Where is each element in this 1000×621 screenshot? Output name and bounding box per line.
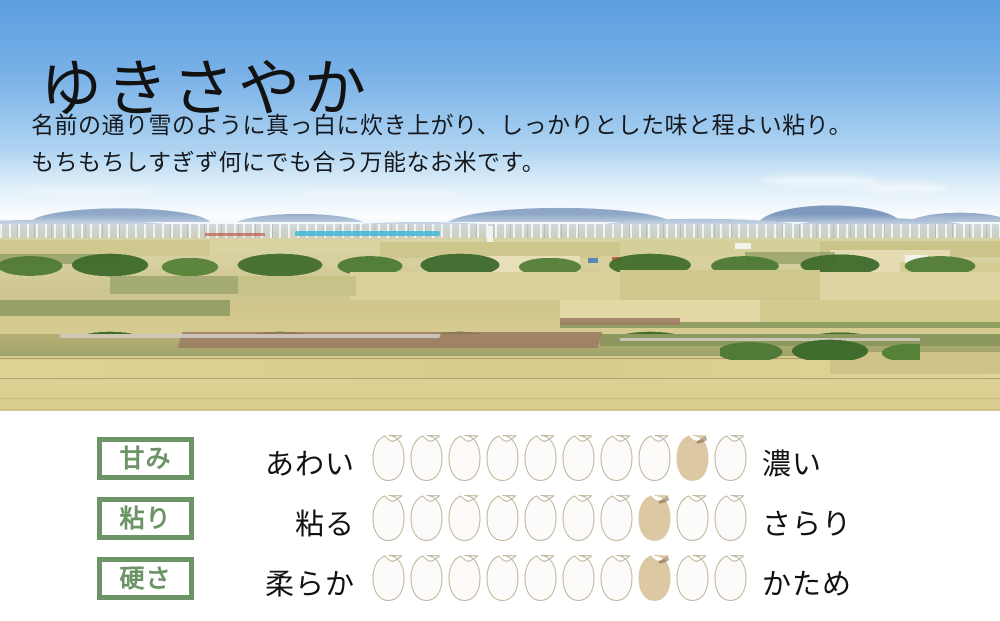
scale-left-label-sweetness: あわい bbox=[205, 441, 355, 483]
grain-empty bbox=[408, 553, 445, 603]
grain-empty bbox=[408, 493, 445, 543]
grain-empty bbox=[674, 553, 711, 603]
hero-photo: ゆきさやか 名前の通り雪のように真っ白に炊き上がり、しっかりとした味と程よい粘り… bbox=[0, 0, 1000, 411]
grain-empty bbox=[522, 553, 559, 603]
scale-right-label-sweetness: 濃い bbox=[762, 441, 962, 483]
hero-description: 名前の通り雪のように真っ白に炊き上がり、しっかりとした味と程よい粘り。 もちもち… bbox=[31, 108, 852, 183]
grain-empty bbox=[712, 553, 749, 603]
grain-empty bbox=[446, 433, 483, 483]
field-patch bbox=[238, 276, 356, 296]
red-structure bbox=[205, 233, 265, 236]
green-field bbox=[110, 276, 240, 294]
grain-empty bbox=[370, 493, 407, 543]
tree-clump bbox=[720, 338, 920, 360]
grain-empty bbox=[446, 493, 483, 543]
grain-empty bbox=[598, 493, 635, 543]
grain-empty bbox=[484, 493, 521, 543]
grain-empty bbox=[598, 553, 635, 603]
scale-left-label-hardness: 柔らか bbox=[205, 561, 355, 603]
description-line-2: もちもちしすぎず何にでも合う万能なお米です。 bbox=[31, 145, 852, 182]
field-patch bbox=[350, 272, 620, 302]
grain-empty bbox=[408, 433, 445, 483]
grain-empty bbox=[522, 433, 559, 483]
grain-empty bbox=[712, 433, 749, 483]
blue-bridge bbox=[295, 231, 440, 236]
brown-tilled-field bbox=[560, 318, 680, 325]
rice-variety-page: ゆきさやか 名前の通り雪のように真っ白に炊き上がり、しっかりとした味と程よい粘り… bbox=[0, 0, 1000, 621]
scale-left-label-stickiness: 粘る bbox=[205, 501, 355, 543]
grain-empty bbox=[370, 433, 407, 483]
scale-right-label-stickiness: さらり bbox=[762, 501, 962, 543]
cloud bbox=[860, 184, 950, 192]
taste-tag-sweetness: 甘み bbox=[97, 437, 194, 480]
field-patch bbox=[620, 270, 820, 298]
description-line-1: 名前の通り雪のように真っ白に炊き上がり、しっかりとした味と程よい粘り。 bbox=[31, 108, 852, 145]
taste-row-hardness: 硬さ 柔らか かため bbox=[0, 549, 1000, 607]
grain-empty bbox=[712, 493, 749, 543]
grain-empty bbox=[484, 553, 521, 603]
grain-empty bbox=[484, 433, 521, 483]
grain-empty bbox=[560, 433, 597, 483]
grain-scale-stickiness bbox=[370, 492, 750, 544]
taste-row-sweetness: 甘み あわい 濃い bbox=[0, 429, 1000, 487]
taste-row-stickiness: 粘り 粘る さらり bbox=[0, 489, 1000, 547]
taste-tag-stickiness: 粘り bbox=[97, 497, 194, 540]
scale-right-label-hardness: かため bbox=[762, 561, 962, 603]
paddy-divider bbox=[0, 378, 1000, 379]
building-roof bbox=[487, 226, 493, 242]
grain-scale-sweetness bbox=[370, 432, 750, 484]
grain-filled bbox=[636, 553, 673, 603]
farm-road bbox=[59, 334, 441, 338]
field-patch bbox=[820, 272, 1000, 302]
building-roof bbox=[735, 243, 751, 249]
grain-empty bbox=[598, 433, 635, 483]
grain-scale-hardness bbox=[370, 552, 750, 604]
green-field bbox=[0, 300, 230, 316]
paddy-divider bbox=[0, 398, 1000, 399]
grain-empty bbox=[446, 553, 483, 603]
taste-chart: 甘み あわい 濃い 粘り 粘る さらり 硬さ 柔らか かため bbox=[0, 411, 1000, 621]
grain-filled bbox=[674, 433, 711, 483]
grain-filled bbox=[636, 493, 673, 543]
grain-empty bbox=[560, 553, 597, 603]
taste-tag-hardness: 硬さ bbox=[97, 557, 194, 600]
grain-empty bbox=[674, 493, 711, 543]
grain-empty bbox=[560, 493, 597, 543]
grain-empty bbox=[636, 433, 673, 483]
grain-empty bbox=[370, 553, 407, 603]
grain-empty bbox=[522, 493, 559, 543]
